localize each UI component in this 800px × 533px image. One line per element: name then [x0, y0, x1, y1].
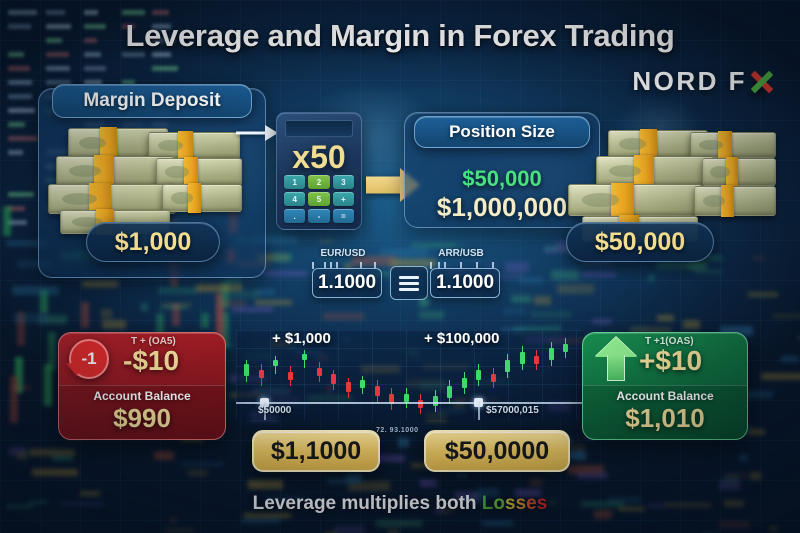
pair-right-label: ARR/USB — [418, 248, 504, 259]
leverage-calculator: x50 12345+.-= — [276, 112, 362, 230]
chart-baseline — [236, 402, 584, 404]
gain-card: T +1(OAS) +$10 Account Balance $1,010 — [582, 332, 748, 440]
up-arrow-icon — [595, 337, 637, 381]
candle-body — [563, 344, 568, 352]
calculator-key-dot[interactable]: . — [284, 209, 305, 223]
footer-text: Leverage multiplies both — [253, 493, 477, 514]
candle-body — [302, 354, 307, 360]
candle-body — [491, 374, 496, 382]
candle-body — [375, 386, 380, 396]
calculator-key-1[interactable]: 1 — [284, 175, 305, 189]
gain-balance-value: $1,010 — [583, 403, 747, 434]
pip-value-right: + $100,000 — [424, 330, 500, 347]
gain-card-bottom: Account Balance $1,010 — [583, 385, 747, 439]
loss-card: -1 T + (OA5) -$10 Account Balance $990 — [58, 332, 226, 440]
candle-body — [447, 386, 452, 398]
calculator-key-minus[interactable]: - — [308, 209, 329, 223]
chart-micro-label: 72. 93.1000 — [376, 427, 418, 434]
candle-body — [244, 364, 249, 376]
candle-body — [317, 368, 322, 376]
loss-balance-label: Account Balance — [59, 389, 225, 403]
candle-body — [462, 378, 467, 388]
calculator-key-2[interactable]: 2 — [308, 175, 329, 189]
loss-card-delta: -$10 — [123, 345, 179, 377]
candle-body — [331, 374, 336, 384]
gain-card-top: T +1(OAS) +$10 — [583, 333, 747, 385]
position-size-amount: $50,000 — [566, 222, 714, 262]
flow-arrow-1-icon — [236, 125, 278, 141]
candle-body — [288, 372, 293, 380]
brand-logo: NORD F X — [632, 66, 774, 97]
gain-balance-label: Account Balance — [583, 389, 747, 403]
pip-value-left: + $1,000 — [272, 330, 331, 347]
footer-emphasis-letter: s — [537, 493, 548, 515]
equals-icon — [390, 266, 428, 300]
brand-x-icon: X — [750, 70, 774, 94]
footer-emphasis: Losses — [482, 493, 548, 514]
candle-body — [549, 348, 554, 360]
footer-tagline: Leverage multiplies both Losses — [0, 493, 800, 515]
page-title: Leverage and Margin in Forex Trading — [0, 18, 800, 54]
candle-body — [404, 394, 409, 402]
candle-body — [346, 382, 351, 392]
calculator-key-equals[interactable]: = — [333, 209, 354, 223]
gold-pill-left: $1,1000 — [252, 430, 380, 472]
loss-balance-value: $990 — [59, 403, 225, 434]
margin-deposit-heading: Margin Deposit — [52, 84, 252, 118]
gold-pill-right: $50,0000 — [424, 430, 570, 472]
footer-emphasis-letter: L — [482, 493, 494, 515]
calculator-screen — [285, 120, 353, 137]
footer-emphasis-letter: o — [493, 493, 505, 515]
calculator-key-plus[interactable]: + — [333, 192, 354, 206]
pair-right-rate[interactable]: 1.1000 — [430, 268, 500, 298]
calculator-key-3[interactable]: 3 — [333, 175, 354, 189]
leverage-multiplier-value: x50 — [277, 139, 361, 176]
pair-left-label: EUR/USD — [300, 248, 386, 259]
candle-body — [360, 380, 365, 388]
footer-emphasis-letter: e — [526, 493, 537, 515]
candle-body — [433, 396, 438, 406]
calculator-key-4[interactable]: 4 — [284, 192, 305, 206]
loss-card-top: -1 T + (OA5) -$10 — [59, 333, 225, 385]
pair-left-rate[interactable]: 1.1000 — [312, 268, 382, 298]
candle-body — [520, 352, 525, 364]
infographic-canvas: Leverage and Margin in Forex Trading NOR… — [0, 0, 800, 533]
footer-emphasis-letter: s — [516, 493, 527, 515]
chart-axis-left: $50000 — [258, 405, 291, 416]
gain-card-delta: +$10 — [639, 345, 702, 377]
chart-tick-right — [478, 402, 480, 420]
candle-body — [534, 356, 539, 364]
calculator-keypad[interactable]: 12345+.-= — [284, 175, 354, 223]
candle-body — [476, 370, 481, 380]
candle-body — [273, 360, 278, 366]
footer-emphasis-letter: s — [505, 493, 516, 515]
brand-logo-text: NORD F — [632, 66, 747, 97]
chart-axis-right: $57000,015 — [486, 405, 539, 416]
margin-deposit-amount: $1,000 — [86, 222, 220, 262]
candle-body — [505, 360, 510, 372]
candle-body — [259, 370, 264, 378]
loss-card-bottom: Account Balance $990 — [59, 385, 225, 439]
down-arrow-badge-icon: -1 — [69, 339, 109, 379]
calculator-key-5[interactable]: 5 — [308, 192, 329, 206]
